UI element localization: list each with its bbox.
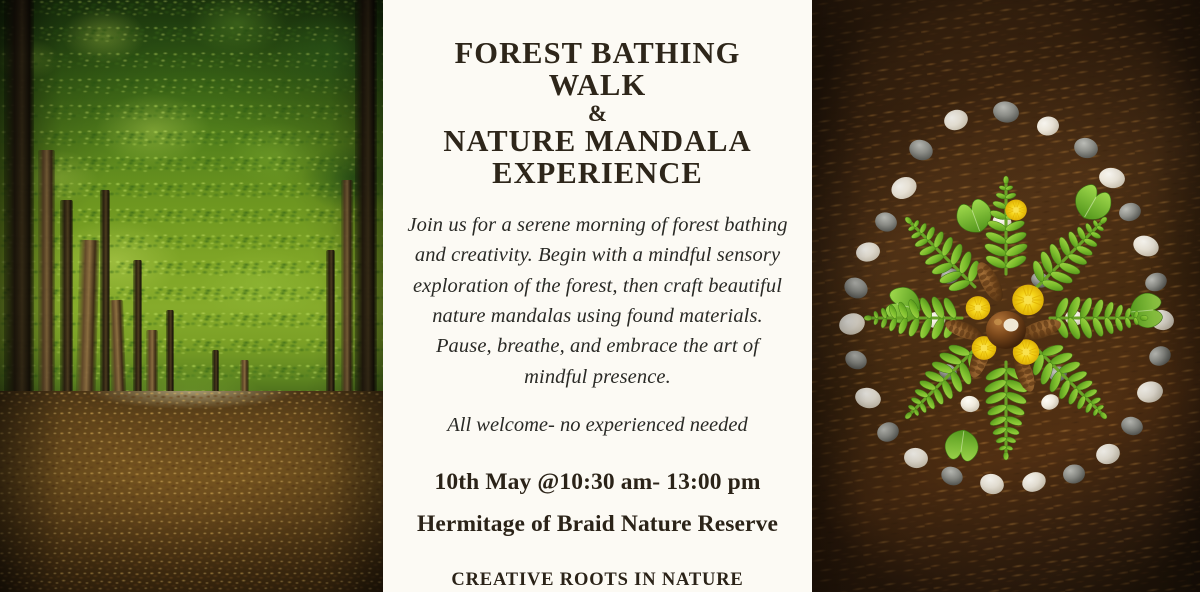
event-details: 10th May @10:30 am- 13:00 pm Hermitage o… <box>405 466 790 542</box>
title-line-3: EXPERIENCE <box>405 158 790 190</box>
photo-vignette <box>812 0 1200 592</box>
poster-text-panel: FOREST BATHING WALK & NATURE MANDALA EXP… <box>383 0 812 592</box>
welcome-note: All welcome- no experienced needed <box>447 411 748 440</box>
title-line-1: FOREST BATHING WALK <box>405 38 790 101</box>
nature-mandala-photo <box>812 0 1200 592</box>
title-line-2: NATURE MANDALA <box>405 126 790 158</box>
photo-vignette <box>0 0 383 592</box>
event-poster: FOREST BATHING WALK & NATURE MANDALA EXP… <box>0 0 1200 592</box>
forest-path-photo <box>0 0 383 592</box>
organizer-brand: CREATIVE ROOTS IN NATURE <box>451 570 743 591</box>
title-ampersand: & <box>405 102 790 125</box>
poster-title: FOREST BATHING WALK & NATURE MANDALA EXP… <box>405 38 790 190</box>
event-description: Join us for a serene morning of forest b… <box>407 210 789 392</box>
venue: Hermitage of Braid Nature Reserve <box>405 508 790 541</box>
date-time: 10th May @10:30 am- 13:00 pm <box>405 466 790 499</box>
